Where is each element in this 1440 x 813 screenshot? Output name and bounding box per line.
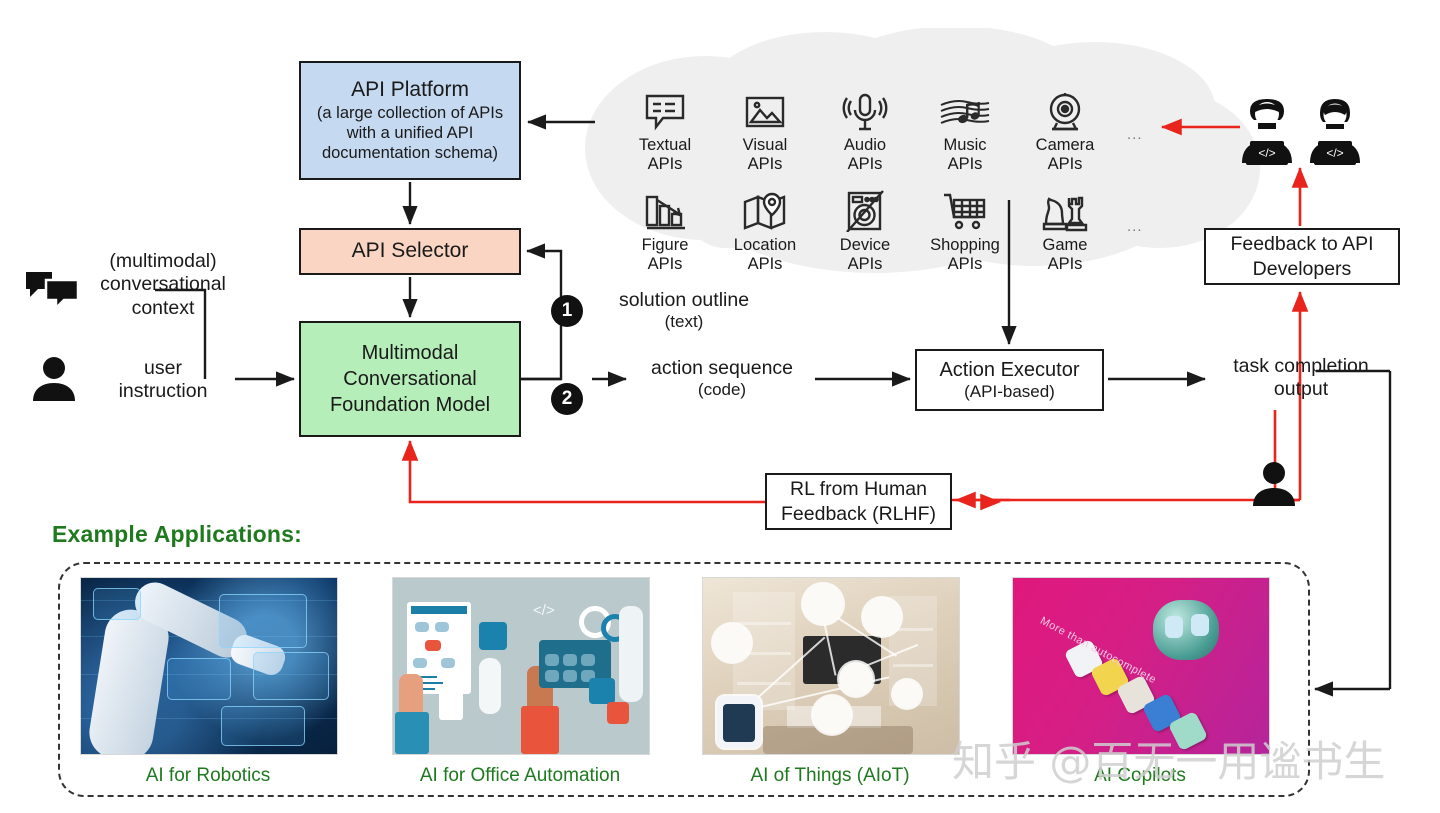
fm-line2: Conversational	[343, 366, 476, 392]
rlhf-line1: RL from Human	[790, 477, 927, 501]
laptop-code-glyph: </>	[1258, 146, 1275, 160]
laptop-code-glyph: </>	[1326, 146, 1343, 160]
person-icon	[30, 355, 78, 406]
app-caption: AI for Office Automation	[392, 765, 648, 787]
person-icon	[1250, 460, 1298, 511]
ui-line2: instruction	[119, 380, 208, 402]
action-executor-box[interactable]: Action Executor (API-based)	[915, 349, 1104, 411]
fm-line3: Foundation Model	[330, 392, 490, 418]
example-applications-title: Example Applications:	[52, 521, 302, 548]
smart-home-photo	[702, 577, 960, 755]
robotic-arm-photo	[80, 577, 338, 755]
solution-outline-label: solution outline (text)	[594, 289, 774, 333]
fm-line1: Multimodal	[362, 340, 459, 366]
ae-line1: Action Executor	[939, 359, 1079, 382]
ui-line1: user	[144, 357, 182, 379]
diagram-canvas: Textual APIs Visual APIs Audio APIs	[0, 0, 1440, 813]
badge-1: 1	[551, 295, 583, 327]
office-automation-illustration: </>	[392, 577, 650, 755]
tc-line2: output	[1274, 378, 1328, 400]
api-platform-box[interactable]: API Platform (a large collection of APIs…	[299, 61, 521, 180]
app-caption: AI for Robotics	[80, 765, 336, 787]
so-main: solution outline	[619, 289, 749, 311]
as-sub: (code)	[698, 380, 746, 399]
task-completion-output-label: task completion output	[1208, 355, 1394, 401]
example-app-office-automation[interactable]: </> AI for Office Automation	[392, 577, 648, 787]
as-main: action sequence	[651, 357, 793, 379]
api-platform-title: API Platform	[351, 78, 469, 102]
feedback-to-developers-box[interactable]: Feedback to API Developers	[1204, 228, 1400, 285]
so-sub: (text)	[665, 312, 704, 331]
foundation-model-box[interactable]: Multimodal Conversational Foundation Mod…	[299, 321, 521, 437]
app-caption: AI of Things (AIoT)	[702, 765, 958, 787]
tc-line1: task completion	[1233, 355, 1368, 377]
api-platform-sub1: (a large collection of APIs	[317, 104, 503, 122]
action-sequence-label: action sequence (code)	[629, 357, 815, 401]
wire-rlhf-to-model	[410, 441, 765, 502]
developer-with-laptop-icon: </>	[1304, 97, 1366, 172]
rlhf-box[interactable]: RL from Human Feedback (RLHF)	[765, 473, 952, 530]
cc-line3: context	[132, 297, 195, 319]
api-platform-sub3: documentation schema)	[322, 144, 498, 162]
rlhf-line2: Feedback (RLHF)	[781, 502, 936, 526]
watermark: 知乎 @百无一用谧书生	[952, 728, 1385, 789]
ae-line2: (API-based)	[964, 382, 1055, 402]
developer-with-laptop-icon: </>	[1236, 97, 1298, 172]
cc-line1: (multimodal)	[109, 250, 216, 272]
user-instruction-label: user instruction	[88, 357, 238, 404]
api-selector-label: API Selector	[352, 239, 469, 263]
fb-line1: Feedback to API	[1230, 232, 1373, 256]
conversational-context-label: (multimodal) conversational context	[78, 250, 248, 320]
api-platform-sub2: with a unified API	[347, 124, 474, 142]
fb-line2: Developers	[1253, 257, 1352, 281]
badge-2: 2	[551, 383, 583, 415]
example-app-aiot[interactable]: AI of Things (AIoT)	[702, 577, 958, 787]
example-app-robotics[interactable]: AI for Robotics	[80, 577, 336, 787]
api-selector-box[interactable]: API Selector	[299, 228, 521, 275]
cc-line2: conversational	[100, 273, 226, 295]
chat-bubbles-icon	[24, 268, 80, 315]
